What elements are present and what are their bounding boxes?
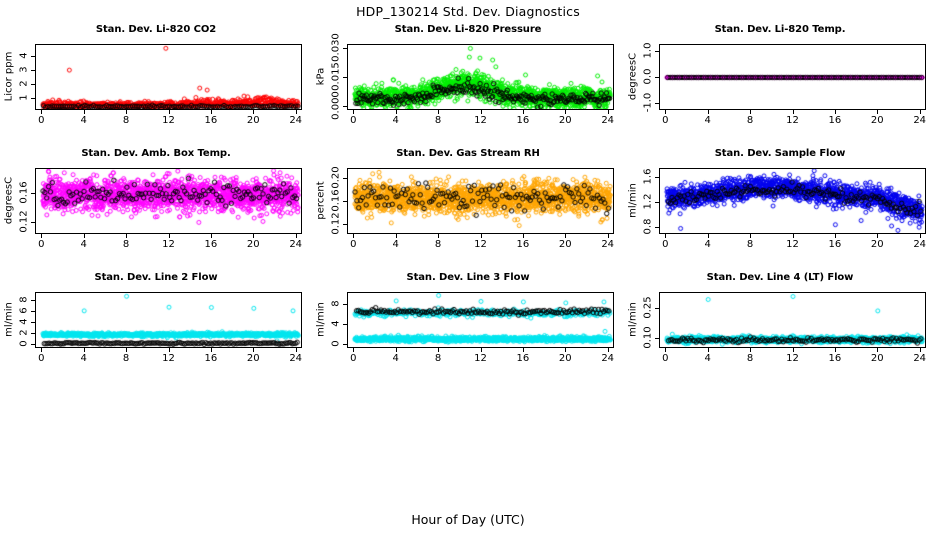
x-tick	[296, 234, 297, 238]
x-tick	[835, 110, 836, 114]
y-tick	[343, 304, 347, 305]
scatter-canvas	[348, 45, 613, 109]
x-tick	[708, 348, 709, 352]
x-tick-label: 20	[238, 239, 268, 250]
panel-title: Stan. Dev. Gas Stream RH	[312, 148, 624, 159]
y-tick	[31, 311, 35, 312]
y-tick-label: 4	[19, 38, 30, 72]
y-tick	[655, 338, 659, 339]
x-tick	[296, 348, 297, 352]
x-tick-label: 20	[550, 115, 580, 126]
x-tick	[396, 110, 397, 114]
x-tick	[750, 110, 751, 114]
plot-panel: Stan. Dev. Li-820 Pressure048121620240.0…	[312, 20, 624, 142]
x-tick-label: 20	[238, 115, 268, 126]
plot-panel: Stan. Dev. Line 3 Flow04812162024048ml/m…	[312, 268, 624, 380]
x-tick-label: 8	[423, 239, 453, 250]
x-tick-label: 0	[650, 239, 680, 250]
x-tick	[565, 110, 566, 114]
x-tick	[481, 110, 482, 114]
x-tick	[353, 110, 354, 114]
y-axis-label: ml/min	[316, 292, 327, 348]
x-tick	[169, 234, 170, 238]
y-tick-label: 0.25	[643, 291, 654, 325]
x-tick-label: 8	[111, 115, 141, 126]
y-tick-label: 0.12	[19, 204, 30, 238]
y-axis-label: Licor ppm	[4, 44, 15, 110]
x-tick-label: 20	[238, 353, 268, 364]
x-tick	[608, 348, 609, 352]
x-tick	[565, 234, 566, 238]
x-tick-label: 16	[196, 239, 226, 250]
x-tick-label: 24	[593, 353, 623, 364]
x-tick-label: 16	[820, 239, 850, 250]
scatter-canvas	[348, 169, 613, 233]
x-tick-label: 12	[466, 353, 496, 364]
y-axis-label: degreesC	[628, 44, 639, 110]
y-tick	[343, 77, 347, 78]
y-axis-label: ml/min	[628, 168, 639, 234]
plot-canvas-wrap	[660, 293, 925, 347]
y-tick-label: 0.16	[19, 175, 30, 209]
panel-title: Stan. Dev. Line 2 Flow	[0, 272, 312, 283]
x-tick	[126, 348, 127, 352]
x-tick-label: 4	[381, 115, 411, 126]
x-tick	[211, 234, 212, 238]
x-tick	[253, 234, 254, 238]
y-axis-label: percent	[316, 168, 327, 234]
y-tick	[343, 344, 347, 345]
y-tick	[655, 308, 659, 309]
x-tick-label: 16	[820, 115, 850, 126]
x-tick	[523, 348, 524, 352]
x-tick-label: 16	[508, 115, 538, 126]
x-tick	[877, 234, 878, 238]
x-tick-label: 0	[650, 353, 680, 364]
y-tick-label: 0.10	[643, 321, 654, 355]
panel-title: Stan. Dev. Amb. Box Temp.	[0, 148, 312, 159]
x-tick-label: 4	[693, 353, 723, 364]
x-tick	[565, 348, 566, 352]
x-tick-label: 12	[154, 239, 184, 250]
x-tick-label: 0	[338, 239, 368, 250]
y-tick	[31, 300, 35, 301]
scatter-canvas	[348, 293, 613, 347]
y-axis-label: degreesC	[4, 168, 15, 234]
x-tick	[353, 234, 354, 238]
x-tick	[920, 348, 921, 352]
x-tick-label: 24	[905, 353, 935, 364]
x-tick	[84, 234, 85, 238]
x-tick-label: 24	[593, 239, 623, 250]
x-tick-label: 24	[281, 115, 311, 126]
x-tick	[126, 110, 127, 114]
y-tick-label: 1.0	[643, 34, 654, 68]
x-tick	[84, 348, 85, 352]
plot-canvas-wrap	[348, 293, 613, 347]
x-tick	[253, 348, 254, 352]
plot-canvas-wrap	[36, 169, 301, 233]
x-tick	[396, 348, 397, 352]
x-tick	[750, 234, 751, 238]
y-tick	[31, 333, 35, 334]
x-tick-label: 12	[466, 115, 496, 126]
x-tick-label: 24	[281, 239, 311, 250]
plot-panel: Stan. Dev. Li-820 Temp.04812162024-1.00.…	[624, 20, 936, 142]
x-tick	[608, 110, 609, 114]
panel-title: Stan. Dev. Li-820 Pressure	[312, 24, 624, 35]
y-tick	[343, 224, 347, 225]
x-tick	[353, 348, 354, 352]
y-tick	[31, 193, 35, 194]
x-tick	[211, 348, 212, 352]
x-tick	[877, 348, 878, 352]
plot-panel: Stan. Dev. Li-820 CO2048121620241234Lico…	[0, 20, 312, 142]
x-tick	[920, 110, 921, 114]
x-tick	[750, 348, 751, 352]
x-tick	[438, 110, 439, 114]
panel-title: Stan. Dev. Li-820 CO2	[0, 24, 312, 35]
x-tick	[708, 110, 709, 114]
x-tick	[835, 234, 836, 238]
x-tick-label: 4	[381, 353, 411, 364]
x-tick-label: 12	[778, 239, 808, 250]
y-axis-label: kPa	[316, 44, 327, 110]
y-tick	[31, 222, 35, 223]
x-tick-label: 24	[905, 115, 935, 126]
x-tick-label: 20	[550, 239, 580, 250]
y-tick-label: 8	[331, 287, 342, 321]
y-tick	[343, 48, 347, 49]
x-tick	[793, 234, 794, 238]
x-tick-label: 4	[693, 115, 723, 126]
x-tick	[793, 110, 794, 114]
y-axis-label: ml/min	[628, 292, 639, 348]
x-tick-label: 8	[423, 353, 453, 364]
y-tick	[31, 322, 35, 323]
y-tick	[31, 98, 35, 99]
plot-canvas-wrap	[660, 45, 925, 109]
x-tick	[41, 234, 42, 238]
x-tick-label: 12	[778, 115, 808, 126]
x-tick	[41, 110, 42, 114]
scatter-canvas	[36, 45, 301, 109]
y-tick-label: 0.000	[331, 89, 342, 123]
x-tick	[665, 234, 666, 238]
panel-title: Stan. Dev. Line 4 (LT) Flow	[624, 272, 936, 283]
y-tick	[343, 201, 347, 202]
x-tick	[665, 110, 666, 114]
scatter-canvas	[660, 45, 925, 109]
scatter-canvas	[660, 293, 925, 347]
x-tick	[296, 110, 297, 114]
x-tick-label: 8	[423, 115, 453, 126]
x-tick	[126, 234, 127, 238]
scatter-canvas	[36, 169, 301, 233]
y-tick-label: 0.030	[331, 30, 342, 64]
x-tick-label: 0	[338, 353, 368, 364]
y-tick-label: 8	[19, 282, 30, 316]
x-tick-label: 24	[905, 239, 935, 250]
x-tick-label: 8	[111, 239, 141, 250]
y-tick	[655, 202, 659, 203]
x-tick-label: 12	[466, 239, 496, 250]
x-tick	[835, 348, 836, 352]
y-tick	[31, 70, 35, 71]
x-tick	[84, 110, 85, 114]
x-tick-label: 0	[26, 115, 56, 126]
y-tick-label: 1.6	[643, 159, 654, 193]
page-title: HDP_130214 Std. Dev. Diagnostics	[0, 4, 936, 19]
x-tick-label: 20	[862, 239, 892, 250]
y-axis-label: ml/min	[4, 292, 15, 348]
x-tick	[41, 348, 42, 352]
y-tick-label: 0.015	[331, 60, 342, 94]
x-tick	[169, 110, 170, 114]
y-tick	[655, 177, 659, 178]
x-tick-label: 16	[508, 239, 538, 250]
x-tick-label: 20	[862, 353, 892, 364]
x-tick	[523, 110, 524, 114]
x-tick	[877, 110, 878, 114]
x-tick	[481, 348, 482, 352]
plot-canvas-wrap	[348, 45, 613, 109]
scatter-canvas	[36, 293, 301, 347]
panel-title: Stan. Dev. Li-820 Temp.	[624, 24, 936, 35]
panel-title: Stan. Dev. Line 3 Flow	[312, 272, 624, 283]
y-tick	[655, 51, 659, 52]
x-tick	[438, 234, 439, 238]
y-tick	[31, 344, 35, 345]
x-tick-label: 20	[550, 353, 580, 364]
plot-panel: Stan. Dev. Amb. Box Temp.048121620240.12…	[0, 144, 312, 266]
x-tick	[708, 234, 709, 238]
plot-panel: Stan. Dev. Gas Stream RH048121620240.120…	[312, 144, 624, 266]
x-tick-label: 16	[196, 353, 226, 364]
x-tick	[481, 234, 482, 238]
x-tick-label: 4	[69, 115, 99, 126]
y-tick	[655, 103, 659, 104]
x-tick	[211, 110, 212, 114]
x-tick	[793, 348, 794, 352]
x-tick-label: 4	[381, 239, 411, 250]
x-tick	[438, 348, 439, 352]
x-tick-label: 24	[593, 115, 623, 126]
figure-xlabel: Hour of Day (UTC)	[0, 512, 936, 527]
panel-title: Stan. Dev. Sample Flow	[624, 148, 936, 159]
x-tick-label: 12	[154, 115, 184, 126]
x-tick-label: 24	[281, 353, 311, 364]
y-tick-label: 0.20	[331, 160, 342, 194]
x-tick-label: 4	[693, 239, 723, 250]
plot-canvas-wrap	[36, 293, 301, 347]
plot-panel: Stan. Dev. Line 4 (LT) Flow048121620240.…	[624, 268, 936, 380]
plot-canvas-wrap	[36, 45, 301, 109]
x-tick-label: 16	[820, 353, 850, 364]
x-tick	[608, 234, 609, 238]
x-tick-label: 8	[735, 239, 765, 250]
plot-panel: Stan. Dev. Sample Flow048121620240.81.21…	[624, 144, 936, 266]
x-tick	[396, 234, 397, 238]
x-tick-label: 4	[69, 239, 99, 250]
scatter-canvas	[660, 169, 925, 233]
x-tick-label: 20	[862, 115, 892, 126]
x-tick-label: 4	[69, 353, 99, 364]
y-tick	[31, 56, 35, 57]
plot-panel: Stan. Dev. Line 2 Flow0481216202402468ml…	[0, 268, 312, 380]
x-tick-label: 12	[778, 353, 808, 364]
x-tick-label: 8	[735, 115, 765, 126]
x-tick-label: 0	[26, 239, 56, 250]
x-tick	[253, 110, 254, 114]
x-tick-label: 16	[196, 115, 226, 126]
x-tick-label: 16	[508, 353, 538, 364]
x-tick	[523, 234, 524, 238]
y-tick	[655, 227, 659, 228]
y-tick	[343, 106, 347, 107]
y-tick	[655, 77, 659, 78]
plot-canvas-wrap	[660, 169, 925, 233]
x-tick-label: 12	[154, 353, 184, 364]
plot-canvas-wrap	[348, 169, 613, 233]
x-tick	[920, 234, 921, 238]
y-tick	[31, 84, 35, 85]
y-tick	[343, 324, 347, 325]
x-tick-label: 8	[735, 353, 765, 364]
x-tick-label: 0	[650, 115, 680, 126]
x-tick	[169, 348, 170, 352]
x-tick	[665, 348, 666, 352]
x-tick-label: 0	[26, 353, 56, 364]
plot-grid: Stan. Dev. Li-820 CO2048121620241234Lico…	[0, 20, 936, 380]
x-tick-label: 8	[111, 353, 141, 364]
y-tick	[343, 178, 347, 179]
x-tick-label: 0	[338, 115, 368, 126]
